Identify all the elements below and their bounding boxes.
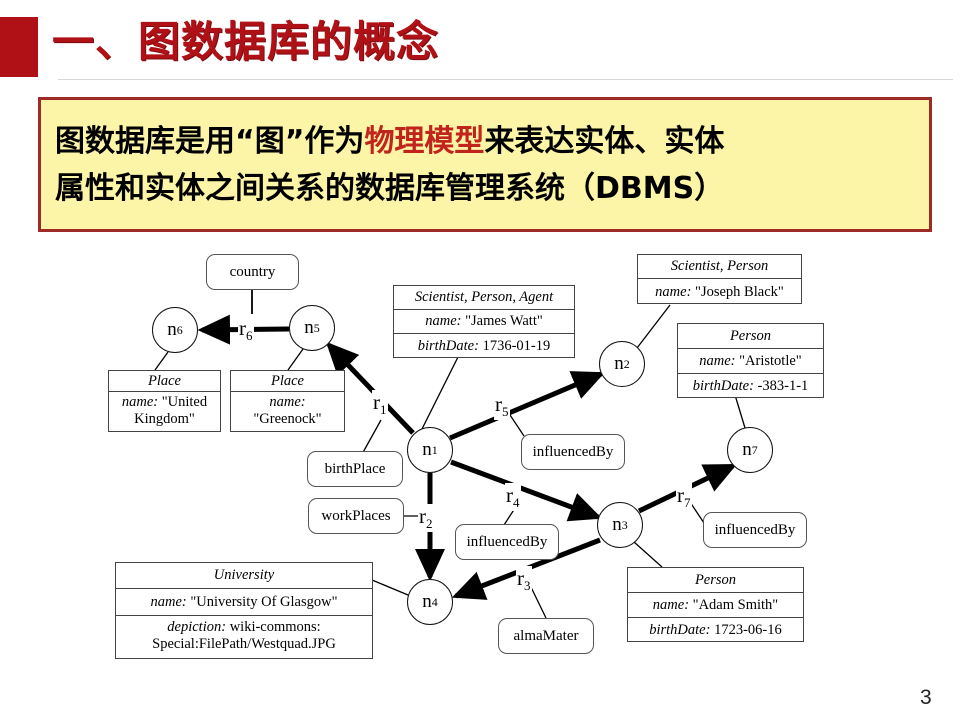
property-label-birthplace-text: birthPlace (325, 461, 386, 478)
attrbox-n2-type: Scientist, Person (638, 255, 801, 279)
edge-label-r7-sub: 7 (684, 495, 691, 510)
definition-line2: 属性和实体之间关系的数据库管理系统（DBMS） (55, 171, 724, 206)
attrbox-n4-name: name: "University Of Glasgow" (116, 589, 372, 616)
attribute-box-n1[interactable]: Scientist, Person, Agent name: "James Wa… (393, 285, 575, 358)
edge-label-r1-sub: 1 (380, 402, 387, 417)
edge-label-r3: r3 (516, 566, 532, 594)
attrbox-n2-name-val: "Joseph Black" (695, 284, 784, 301)
attrbox-n5-type: Place (231, 371, 344, 392)
edge-label-r2: r2 (418, 504, 434, 532)
graph-node-n1[interactable]: n1 (407, 427, 453, 473)
node-sub-n4: 4 (432, 595, 438, 610)
attrbox-n7-birthdate: birthDate: -383-1-1 (678, 374, 823, 399)
attrbox-n7-name-key: name: (699, 353, 735, 370)
attrbox-n6-name-val2: Kingdom" (134, 411, 195, 427)
attrbox-n1-name: name: "James Watt" (394, 310, 574, 334)
node-label-n3: n (612, 514, 622, 536)
leader-n4-box (372, 580, 408, 595)
header-accent-square (0, 17, 38, 77)
definition-line1-part2: 来表达实体、实体 (484, 124, 724, 159)
property-label-almamater[interactable]: almaMater (498, 618, 594, 654)
node-sub-n7: 7 (752, 443, 758, 458)
attrbox-n7-birthdate-key: birthDate: (693, 378, 754, 395)
edge-r5 (450, 374, 601, 438)
property-label-influencedby-r5[interactable]: influencedBy (521, 434, 625, 470)
attrbox-n2-name-key: name: (655, 284, 691, 301)
attribute-box-n7[interactable]: Person name: "Aristotle" birthDate: -383… (677, 323, 824, 398)
attrbox-n4-depiction-val: wiki-commons: (230, 619, 321, 635)
node-sub-n5: 5 (314, 321, 320, 336)
node-label-n2: n (614, 353, 624, 375)
graph-node-n5[interactable]: n5 (289, 305, 335, 351)
attrbox-n7-name: name: "Aristotle" (678, 349, 823, 374)
attrbox-n3-birthdate-key: birthDate: (649, 622, 710, 639)
attrbox-n4-depiction: depiction: wiki-commons: Special:FilePat… (116, 616, 372, 660)
graph-node-n7[interactable]: n7 (727, 427, 773, 473)
edge-label-r5: r5 (494, 392, 510, 420)
edge-label-r5-text: r (495, 392, 502, 416)
attrbox-n3-birthdate-val: 1723-06-16 (714, 622, 782, 639)
attrbox-n6-type: Place (109, 371, 220, 392)
graph-node-n2[interactable]: n2 (599, 341, 645, 387)
attrbox-n4-name-key: name: (150, 594, 186, 611)
attribute-box-n5[interactable]: Place name: "Greenock" (230, 370, 345, 432)
attrbox-n7-birthdate-val: -383-1-1 (758, 378, 809, 395)
edge-label-r1-text: r (373, 390, 380, 414)
definition-text: 图数据库是用“图”作为物理模型来表达实体、实体 属性和实体之间关系的数据库管理系… (55, 118, 921, 212)
attrbox-n6-name-key: name: (122, 394, 158, 410)
attrbox-n7-name-val: "Aristotle" (739, 353, 802, 370)
property-label-country[interactable]: country (206, 254, 299, 290)
definition-callout: 图数据库是用“图”作为物理模型来表达实体、实体 属性和实体之间关系的数据库管理系… (38, 97, 932, 232)
page-number: 3 (920, 686, 932, 710)
property-label-influencedby-r7-text: influencedBy (715, 522, 796, 539)
property-label-birthplace[interactable]: birthPlace (307, 451, 403, 487)
leader-r5-influencedBy (508, 412, 524, 436)
header-divider (58, 79, 953, 80)
node-label-n1: n (422, 439, 432, 461)
attrbox-n4-depiction-key: depiction: (167, 619, 226, 635)
attrbox-n4-depiction-val2: Special:FilePath/Westquad.JPG (152, 636, 336, 652)
attribute-box-n3[interactable]: Person name: "Adam Smith" birthDate: 172… (627, 567, 804, 642)
graph-node-n3[interactable]: n3 (597, 502, 643, 548)
property-label-country-text: country (230, 264, 276, 281)
property-label-workplaces-text: workPlaces (321, 508, 390, 525)
graph-diagram: n1 n2 n3 n4 n5 n6 n7 r1 r2 r3 r4 r5 r6 r… (0, 240, 960, 680)
attrbox-n1-type-text: Scientist, Person, Agent (415, 289, 553, 306)
edge-label-r7: r7 (676, 483, 692, 511)
attrbox-n6-type-text: Place (148, 373, 181, 390)
node-label-n5: n (304, 317, 314, 339)
attrbox-n5-type-text: Place (271, 373, 304, 390)
leader-r3-almaMater (529, 583, 546, 618)
property-label-almamater-text: almaMater (514, 628, 579, 645)
attrbox-n6-name: name: "United Kingdom" (109, 392, 220, 433)
attribute-box-n6[interactable]: Place name: "United Kingdom" (108, 370, 221, 432)
attribute-box-n4[interactable]: University name: "University Of Glasgow"… (115, 562, 373, 659)
node-label-n4: n (422, 591, 432, 613)
definition-highlight: 物理模型 (364, 124, 484, 159)
attrbox-n3-name: name: "Adam Smith" (628, 593, 803, 618)
attrbox-n1-name-key: name: (425, 313, 461, 330)
edge-r4 (451, 462, 598, 517)
leader-n1-box (422, 353, 460, 429)
edge-label-r3-text: r (517, 566, 524, 590)
attrbox-n1-birthdate-val: 1736-01-19 (483, 338, 551, 355)
edge-label-r2-text: r (419, 504, 426, 528)
edge-label-r5-sub: 5 (502, 404, 509, 419)
leader-n3-box (634, 542, 662, 567)
attribute-box-n2[interactable]: Scientist, Person name: "Joseph Black" (637, 254, 802, 304)
edge-label-r3-sub: 3 (524, 578, 531, 593)
attrbox-n2-type-text: Scientist, Person (671, 258, 768, 275)
attrbox-n4-name-val: "University Of Glasgow" (190, 594, 337, 611)
node-sub-n1: 1 (432, 443, 438, 458)
attrbox-n4-type: University (116, 563, 372, 589)
leader-n6-box (155, 352, 168, 370)
attrbox-n5-name-val: "Greenock" (253, 411, 321, 427)
edge-label-r4: r4 (505, 483, 521, 511)
property-label-workplaces[interactable]: workPlaces (308, 498, 404, 534)
attrbox-n4-type-text: University (214, 567, 274, 584)
edge-label-r7-text: r (677, 483, 684, 507)
attrbox-n7-type-text: Person (730, 328, 771, 345)
attrbox-n3-name-key: name: (653, 597, 689, 614)
edge-label-r4-text: r (506, 483, 513, 507)
edge-label-r4-sub: 4 (513, 495, 520, 510)
edge-label-r6-text: r (239, 316, 246, 340)
page-title: 一、图数据库的概念 (52, 8, 439, 69)
edge-label-r1: r1 (372, 390, 388, 418)
edge-label-r2-sub: 2 (426, 516, 433, 531)
attrbox-n1-name-val: "James Watt" (465, 313, 543, 330)
graph-node-n6[interactable]: n6 (152, 307, 198, 353)
attrbox-n1-birthdate: birthDate: 1736-01-19 (394, 334, 574, 359)
edge-label-r6: r6 (238, 316, 254, 344)
attrbox-n5-name: name: "Greenock" (231, 392, 344, 433)
property-label-influencedby-r5-text: influencedBy (533, 444, 614, 461)
property-label-influencedby-r4[interactable]: influencedBy (455, 524, 559, 560)
leader-n5-box (288, 349, 303, 370)
slide-header: 一、图数据库的概念 (0, 0, 960, 90)
leader-n2-box (637, 305, 670, 348)
graph-node-n4[interactable]: n4 (407, 579, 453, 625)
edge-label-r6-sub: 6 (246, 328, 253, 343)
node-sub-n3: 3 (622, 518, 628, 533)
attrbox-n1-birthdate-key: birthDate: (418, 338, 479, 355)
attrbox-n3-birthdate: birthDate: 1723-06-16 (628, 618, 803, 643)
attrbox-n3-name-val: "Adam Smith" (693, 597, 779, 614)
property-label-influencedby-r4-text: influencedBy (467, 534, 548, 551)
attrbox-n3-type: Person (628, 568, 803, 593)
node-sub-n6: 6 (177, 323, 183, 338)
definition-line1-part1: 图数据库是用“图”作为 (55, 124, 364, 159)
attrbox-n7-type: Person (678, 324, 823, 349)
attrbox-n5-name-key: name: (269, 394, 305, 410)
attrbox-n6-name-val: "United (162, 394, 207, 410)
attrbox-n3-type-text: Person (695, 572, 736, 589)
node-sub-n2: 2 (624, 357, 630, 372)
node-label-n7: n (742, 439, 752, 461)
node-label-n6: n (167, 319, 177, 341)
attrbox-n1-type: Scientist, Person, Agent (394, 286, 574, 310)
property-label-influencedby-r7[interactable]: influencedBy (703, 512, 807, 548)
attrbox-n2-name: name: "Joseph Black" (638, 279, 801, 305)
